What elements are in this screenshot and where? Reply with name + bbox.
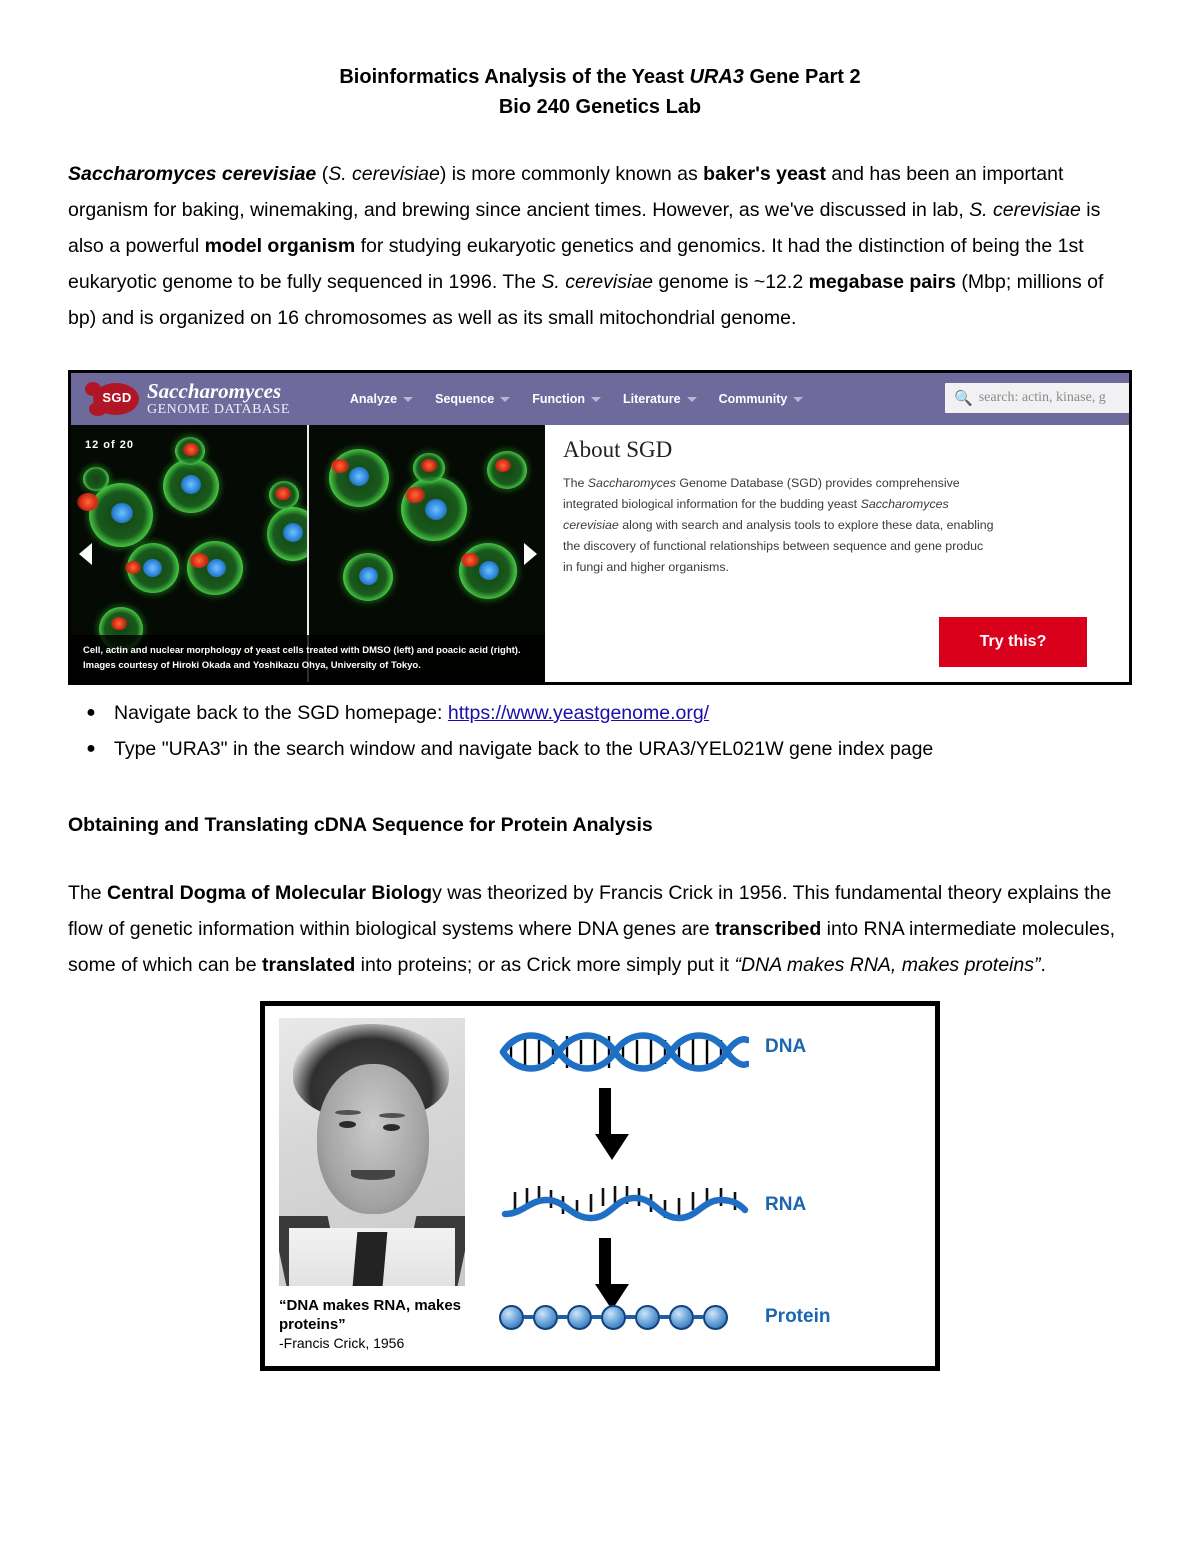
- amino-acid-bead: [703, 1305, 728, 1330]
- carousel-next-arrow-icon[interactable]: [524, 543, 537, 565]
- chevron-down-icon: [403, 397, 413, 402]
- sgd-menu: Analyze Sequence Function Literature Com…: [350, 392, 803, 406]
- actin-patch: [495, 459, 511, 472]
- nucleus: [143, 559, 162, 577]
- francis-crick-photo: [279, 1018, 465, 1286]
- document-page: Bioinformatics Analysis of the Yeast URA…: [0, 0, 1200, 1553]
- nucleus: [479, 561, 499, 580]
- crick-brow-left: [335, 1110, 361, 1115]
- about-line-4: the discovery of functional relationship…: [563, 536, 1033, 557]
- crick-eye-left: [339, 1121, 356, 1128]
- nucleus: [425, 499, 447, 520]
- page-title-part-a: Bioinformatics Analysis of the Yeast: [339, 66, 689, 88]
- bullet-1-text: Navigate back to the SGD homepage:: [114, 702, 448, 724]
- actin-patch: [421, 459, 437, 472]
- sgd-hero-area: 12 of 20 Cell, actin and nuclear morphol…: [71, 425, 1129, 683]
- protein-label: Protein: [765, 1306, 830, 1328]
- about-t7: along with search and analysis tools to …: [619, 518, 994, 532]
- carousel-slide-counter: 12 of 20: [85, 439, 134, 451]
- dna-double-helix-icon: [499, 1032, 749, 1072]
- about-t1: The: [563, 476, 588, 490]
- intro-model-organism-bold: model organism: [205, 235, 356, 257]
- intro-abbrev-1: S. cerevisiae: [328, 163, 440, 185]
- central-dogma-figure: “DNA makes RNA, makes proteins” -Francis…: [260, 1001, 940, 1371]
- actin-patch: [183, 443, 199, 456]
- intro-bakers-yeast-bold: baker's yeast: [703, 163, 826, 185]
- bullet-text-1: Navigate back to the SGD homepage: https…: [114, 695, 709, 731]
- spacer: [0, 767, 1200, 807]
- nucleus: [359, 567, 378, 585]
- search-placeholder-text: search: actin, kinase, g: [979, 390, 1106, 406]
- amino-acid-bead: [635, 1305, 660, 1330]
- actin-patch: [331, 459, 349, 473]
- amino-acid-bead: [533, 1305, 558, 1330]
- about-sgd-heading: About SGD: [563, 437, 1129, 463]
- crick-brow-right: [379, 1113, 405, 1118]
- intro-species-bold-italic: Saccharomyces cerevisiae: [68, 163, 316, 185]
- amino-acid-bead: [567, 1305, 592, 1330]
- peptide-bond: [524, 1315, 533, 1319]
- spacer: [0, 336, 1200, 370]
- sgd-menu-label-analyze: Analyze: [350, 392, 397, 406]
- sgd-menu-item-literature[interactable]: Literature: [623, 392, 697, 406]
- central-dogma-paragraph: The Central Dogma of Molecular Biology w…: [68, 875, 1132, 983]
- actin-patch: [77, 493, 99, 511]
- sgd-logo-line2: GENOME DATABASE: [147, 403, 290, 418]
- about-line-2: integrated biological information for th…: [563, 494, 1033, 515]
- nucleus: [207, 559, 226, 577]
- sgd-menu-label-function: Function: [532, 392, 585, 406]
- dogma-t9: .: [1040, 954, 1045, 976]
- sgd-menu-item-function[interactable]: Function: [532, 392, 601, 406]
- sgd-menu-label-sequence: Sequence: [435, 392, 494, 406]
- page-title: Bioinformatics Analysis of the Yeast URA…: [0, 0, 1200, 92]
- arrow-shaft: [599, 1088, 611, 1134]
- intro-t4: ) is more commonly known as: [440, 163, 703, 185]
- intro-paragraph-block: Saccharomyces cerevisiae (S. cerevisiae)…: [68, 156, 1132, 336]
- peptide-bond: [558, 1315, 567, 1319]
- nucleus: [181, 475, 201, 494]
- arrow-shaft: [599, 1238, 611, 1284]
- sgd-menu-item-analyze[interactable]: Analyze: [350, 392, 413, 406]
- peptide-bond: [660, 1315, 669, 1319]
- list-item: ● Navigate back to the SGD homepage: htt…: [68, 695, 1132, 731]
- intro-abbrev-2: S. cerevisiae: [969, 199, 1081, 221]
- chevron-down-icon: [591, 397, 601, 402]
- about-genus-italic-1: Saccharomyces: [588, 476, 676, 490]
- central-dogma-figure-wrap: “DNA makes RNA, makes proteins” -Francis…: [0, 1001, 1200, 1371]
- amino-acid-bead: [669, 1305, 694, 1330]
- arrow-head: [595, 1134, 629, 1160]
- intro-t12: genome is ~12.2: [653, 271, 809, 293]
- sgd-navbar: SGD Saccharomyces GENOME DATABASE Analyz…: [71, 373, 1129, 425]
- amino-acid-bead: [601, 1305, 626, 1330]
- peptide-bond: [626, 1315, 635, 1319]
- chevron-down-icon: [793, 397, 803, 402]
- chevron-down-icon: [687, 397, 697, 402]
- carousel-caption-line2: Images courtesy of Hiroki Okada and Yosh…: [83, 658, 535, 673]
- nucleus: [283, 523, 303, 542]
- dogma-central-dogma-bold: Central Dogma of Molecular Biolog: [107, 882, 432, 904]
- transcription-arrow-icon: [595, 1088, 615, 1160]
- dna-label: DNA: [765, 1036, 806, 1058]
- actin-patch: [405, 487, 425, 503]
- peptide-bond: [592, 1315, 601, 1319]
- crick-attribution: -Francis Crick, 1956: [279, 1334, 465, 1353]
- crick-mouth: [351, 1170, 395, 1180]
- chevron-down-icon: [500, 397, 510, 402]
- about-line-1: The Saccharomyces Genome Database (SGD) …: [563, 473, 1033, 494]
- intro-t2: (: [316, 163, 328, 185]
- dogma-t7: into proteins; or as Crick more simply p…: [355, 954, 734, 976]
- sgd-menu-label-literature: Literature: [623, 392, 681, 406]
- yeast-bud: [83, 467, 109, 491]
- about-sgd-paragraph: The Saccharomyces Genome Database (SGD) …: [563, 473, 1033, 578]
- central-dogma-paragraph-block: The Central Dogma of Molecular Biology w…: [68, 875, 1132, 983]
- intro-megabase-bold: megabase pairs: [809, 271, 956, 293]
- list-item: ● Type "URA3" in the search window and n…: [68, 731, 1132, 767]
- bullet-marker-icon: ●: [68, 731, 114, 767]
- carousel-prev-arrow-icon[interactable]: [79, 543, 92, 565]
- about-line-5: in fungi and higher organisms.: [563, 557, 1033, 578]
- dogma-crick-quote-italic: “DNA makes RNA, makes proteins”: [735, 954, 1041, 976]
- sgd-homepage-screenshot: SGD Saccharomyces GENOME DATABASE Analyz…: [68, 370, 1132, 685]
- intro-paragraph: Saccharomyces cerevisiae (S. cerevisiae)…: [68, 156, 1132, 336]
- dogma-transcribed-bold: transcribed: [715, 918, 821, 940]
- nucleus: [349, 467, 369, 486]
- try-this-button[interactable]: Try this?: [939, 617, 1087, 667]
- protein-chain-icon: [499, 1300, 749, 1334]
- instruction-bullet-list: ● Navigate back to the SGD homepage: htt…: [68, 695, 1132, 767]
- about-line-3: cerevisiae along with search and analysi…: [563, 515, 1033, 536]
- sgd-menu-item-community[interactable]: Community: [719, 392, 804, 406]
- page-title-gene-italic: URA3: [689, 66, 743, 88]
- sgd-logo-badge-icon: SGD: [85, 381, 141, 417]
- sgd-menu-item-sequence[interactable]: Sequence: [435, 392, 510, 406]
- bullet-marker-icon: ●: [68, 695, 114, 731]
- amino-acid-bead: [499, 1305, 524, 1330]
- about-t4: integrated biological information for th…: [563, 497, 861, 511]
- carousel-caption: Cell, actin and nuclear morphology of ye…: [71, 635, 545, 683]
- dogma-diagram-column: DNA: [465, 1006, 935, 1366]
- intro-abbrev-3: S. cerevisiae: [541, 271, 653, 293]
- sgd-logo-line1: Saccharomyces: [147, 380, 290, 402]
- nucleus: [111, 503, 133, 523]
- dogma-t1: The: [68, 882, 107, 904]
- sgd-menu-label-community: Community: [719, 392, 788, 406]
- yeastgenome-link[interactable]: https://www.yeastgenome.org/: [448, 702, 709, 724]
- rna-strand-icon: [499, 1184, 749, 1228]
- rna-label: RNA: [765, 1194, 806, 1216]
- section-heading-cdna: Obtaining and Translating cDNA Sequence …: [68, 807, 1132, 843]
- about-species-italic: cerevisiae: [563, 518, 619, 532]
- dogma-translated-bold: translated: [262, 954, 355, 976]
- about-genus-italic-2: Saccharomyces: [861, 497, 949, 511]
- sgd-image-carousel[interactable]: 12 of 20 Cell, actin and nuclear morphol…: [71, 425, 545, 683]
- spacer: [0, 843, 1200, 875]
- crick-column: “DNA makes RNA, makes proteins” -Francis…: [265, 1006, 465, 1366]
- page-subtitle: Bio 240 Genetics Lab: [0, 92, 1200, 122]
- sgd-badge-text: SGD: [95, 390, 139, 405]
- actin-patch: [111, 617, 127, 630]
- sgd-search-input[interactable]: 🔍 search: actin, kinase, g: [945, 383, 1132, 413]
- bullet-text-2: Type "URA3" in the search window and nav…: [114, 731, 933, 767]
- peptide-bond: [694, 1315, 703, 1319]
- actin-patch: [461, 553, 479, 567]
- sgd-logo[interactable]: SGD Saccharomyces GENOME DATABASE: [71, 380, 290, 417]
- carousel-caption-line1: Cell, actin and nuclear morphology of ye…: [83, 643, 535, 658]
- search-icon: 🔍: [954, 389, 973, 407]
- crick-necktie: [353, 1232, 388, 1286]
- crick-face: [317, 1064, 429, 1214]
- about-t3: Genome Database (SGD) provides comprehen…: [676, 476, 960, 490]
- page-title-part-b: Gene Part 2: [744, 66, 861, 88]
- sgd-logo-text: Saccharomyces GENOME DATABASE: [147, 380, 290, 417]
- crick-eye-right: [383, 1124, 400, 1131]
- actin-patch: [125, 561, 141, 574]
- about-sgd-panel: About SGD The Saccharomyces Genome Datab…: [545, 425, 1129, 683]
- crick-quote: “DNA makes RNA, makes proteins”: [279, 1296, 465, 1334]
- actin-patch: [189, 553, 209, 568]
- actin-patch: [275, 487, 291, 500]
